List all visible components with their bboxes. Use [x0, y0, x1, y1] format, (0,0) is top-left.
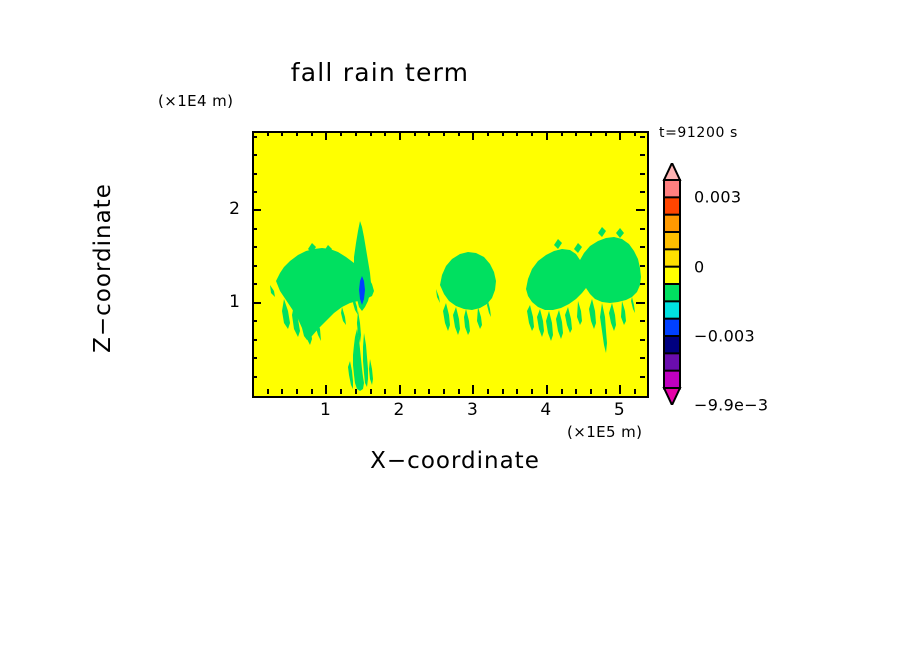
- y-tick-left: [252, 228, 257, 230]
- x-tick-top: [296, 131, 298, 136]
- y-tick-right: [640, 246, 645, 248]
- x-tick-top: [267, 131, 269, 136]
- y-tick-right: [640, 265, 645, 267]
- y-tick-right: [640, 154, 645, 156]
- x-tick-top: [590, 131, 592, 136]
- y-tick-left: [252, 173, 257, 175]
- x-tick-bottom: [531, 389, 533, 394]
- x-tick-bottom: [546, 385, 548, 394]
- x-tick-top: [531, 131, 533, 136]
- page-title: fall rain term: [0, 58, 760, 87]
- y-tick-right: [640, 320, 645, 322]
- x-tick-top: [384, 131, 386, 136]
- time-annotation: t=91200 s: [659, 125, 738, 141]
- y-ticklabel: 2: [218, 199, 240, 219]
- y-tick-right: [640, 136, 645, 138]
- y-axis-unit-label: (×1E4 m): [158, 92, 233, 110]
- x-tick-top: [311, 131, 313, 136]
- x-tick-bottom: [355, 389, 357, 394]
- x-tick-bottom: [296, 389, 298, 394]
- x-tick-top: [575, 131, 577, 136]
- y-tick-right: [636, 209, 645, 211]
- x-tick-bottom: [605, 389, 607, 394]
- colorbar-top-arrow: [664, 163, 680, 180]
- x-tick-bottom: [619, 385, 621, 394]
- x-tick-bottom: [414, 389, 416, 394]
- x-tick-bottom: [443, 389, 445, 394]
- x-tick-bottom: [399, 385, 401, 394]
- y-tick-left: [252, 357, 257, 359]
- colorbar-tick-label: −0.003: [694, 327, 755, 346]
- colorbar-band: [664, 215, 680, 233]
- y-tick-right: [640, 376, 645, 378]
- y-tick-left: [252, 265, 257, 267]
- x-tick-top: [325, 131, 327, 140]
- colorbar-band: [664, 197, 680, 215]
- x-ticklabel: 5: [614, 400, 625, 420]
- colorbar-band: [664, 232, 680, 250]
- y-tick-left: [252, 339, 257, 341]
- x-tick-top: [561, 131, 563, 136]
- y-tick-right: [636, 302, 645, 304]
- y-tick-left: [252, 302, 261, 304]
- colorbar-swatches: [659, 163, 685, 405]
- x-tick-bottom: [325, 385, 327, 394]
- colorbar-band: [664, 301, 680, 319]
- plot-area: [252, 131, 649, 398]
- x-tick-top: [516, 131, 518, 136]
- colorbar-band: [664, 319, 680, 337]
- y-tick-left: [252, 209, 261, 211]
- y-tick-left: [252, 246, 257, 248]
- x-tick-top: [502, 131, 504, 136]
- y-tick-left: [252, 154, 257, 156]
- x-tick-bottom: [311, 389, 313, 394]
- colorbar-band: [664, 371, 680, 389]
- x-tick-bottom: [590, 389, 592, 394]
- x-tick-top: [634, 131, 636, 136]
- x-tick-bottom: [472, 385, 474, 394]
- x-ticklabel: 4: [540, 400, 551, 420]
- x-tick-top: [487, 131, 489, 136]
- x-tick-top: [370, 131, 372, 136]
- x-tick-top: [414, 131, 416, 136]
- y-tick-left: [252, 376, 257, 378]
- colorbar-tick-label: −9.9e−3: [694, 396, 768, 415]
- x-tick-bottom: [384, 389, 386, 394]
- x-tick-top: [399, 131, 401, 140]
- colorbar-band: [664, 353, 680, 371]
- x-tick-bottom: [575, 389, 577, 394]
- colorbar[interactable]: [659, 163, 685, 405]
- colorbar-tick-label: 0.003: [694, 188, 741, 207]
- colorbar-band: [664, 284, 680, 302]
- x-tick-top: [472, 131, 474, 140]
- x-tick-bottom: [340, 389, 342, 394]
- x-tick-top: [355, 131, 357, 136]
- x-axis-title: X−coordinate: [265, 448, 645, 474]
- colorbar-band: [664, 180, 680, 198]
- x-tick-top: [428, 131, 430, 136]
- x-axis-unit-label: (×1E5 m): [567, 423, 642, 441]
- colorbar-band: [664, 249, 680, 267]
- y-tick-right: [640, 357, 645, 359]
- y-tick-right: [640, 173, 645, 175]
- y-axis-title: Z−coordinate: [90, 118, 116, 418]
- y-tick-left: [252, 283, 257, 285]
- y-tick-right: [640, 228, 645, 230]
- x-tick-bottom: [267, 389, 269, 394]
- contour-field: [254, 133, 647, 396]
- x-tick-top: [458, 131, 460, 136]
- x-tick-bottom: [516, 389, 518, 394]
- colorbar-band: [664, 336, 680, 354]
- colorbar-tick-label: 0: [694, 257, 704, 276]
- y-tick-left: [252, 191, 257, 193]
- colorbar-band: [664, 267, 680, 285]
- x-ticklabel: 2: [393, 400, 404, 420]
- x-ticklabel: 3: [467, 400, 478, 420]
- x-tick-top: [340, 131, 342, 136]
- x-tick-top: [605, 131, 607, 136]
- y-tick-left: [252, 136, 257, 138]
- y-ticklabel: 1: [218, 292, 240, 312]
- x-tick-bottom: [487, 389, 489, 394]
- x-tick-bottom: [428, 389, 430, 394]
- x-tick-bottom: [502, 389, 504, 394]
- y-tick-left: [252, 320, 257, 322]
- x-tick-bottom: [458, 389, 460, 394]
- y-tick-right: [640, 339, 645, 341]
- y-tick-right: [640, 191, 645, 193]
- x-tick-top: [281, 131, 283, 136]
- x-tick-bottom: [634, 389, 636, 394]
- colorbar-bottom-arrow: [664, 388, 680, 405]
- x-tick-bottom: [370, 389, 372, 394]
- y-tick-right: [640, 283, 645, 285]
- x-tick-bottom: [561, 389, 563, 394]
- x-ticklabel: 1: [320, 400, 331, 420]
- x-tick-top: [546, 131, 548, 140]
- x-tick-top: [619, 131, 621, 140]
- x-tick-bottom: [281, 389, 283, 394]
- x-tick-top: [443, 131, 445, 136]
